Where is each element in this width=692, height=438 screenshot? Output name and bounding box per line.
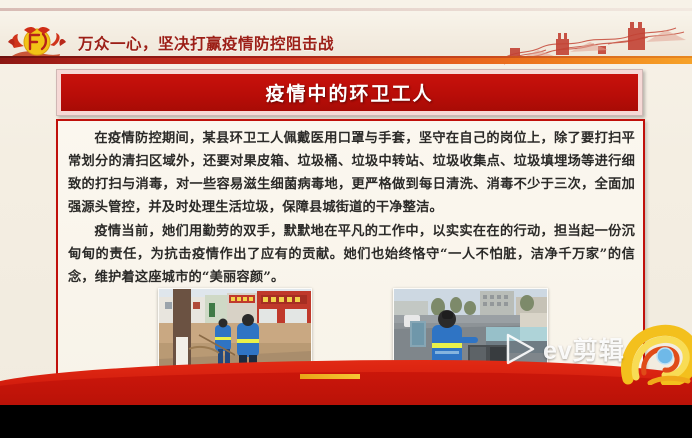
header-headline: 万众一心，坚决打赢疫情防控阻击战 [78,32,334,54]
slide-viewer: 万众一心，坚决打赢疫情防控阻击战 [0,0,692,438]
gold-accent-strip [300,374,360,379]
bottom-letterbox [0,405,692,438]
slide-header: 万众一心，坚决打赢疫情防控阻击战 [0,8,692,58]
body-paragraph-1: 在疫情防控期间，某县环卫工人佩戴医用口罩与手套，坚守在自己的岗位上，除了要打扫平… [68,127,635,219]
slide-title-plate: 疫情中的环卫工人 [56,69,643,116]
gold-swirl-ornament-icon [620,319,692,385]
header-top-shadow [0,8,692,11]
page-title: 疫情中的环卫工人 [265,79,433,106]
ev-watermark-label: ev剪辑 [543,331,625,367]
slide-title-inner: 疫情中的环卫工人 [61,74,638,111]
play-triangle-icon [503,332,537,366]
header-rule-gradient [0,58,692,64]
presentation-slide: 万众一心，坚决打赢疫情防控阻击战 [0,0,692,405]
ev-watermark: ev剪辑 [503,331,625,367]
content-body: 在疫情防控期间，某县环卫工人佩戴医用口罩与手套，坚守在自己的岗位上，除了要打扫平… [68,127,635,290]
body-paragraph-2: 疫情当前，她们用勤劳的双手，默默地在平凡的工作中，以实实在在的行动，担当起一份沉… [68,220,635,289]
